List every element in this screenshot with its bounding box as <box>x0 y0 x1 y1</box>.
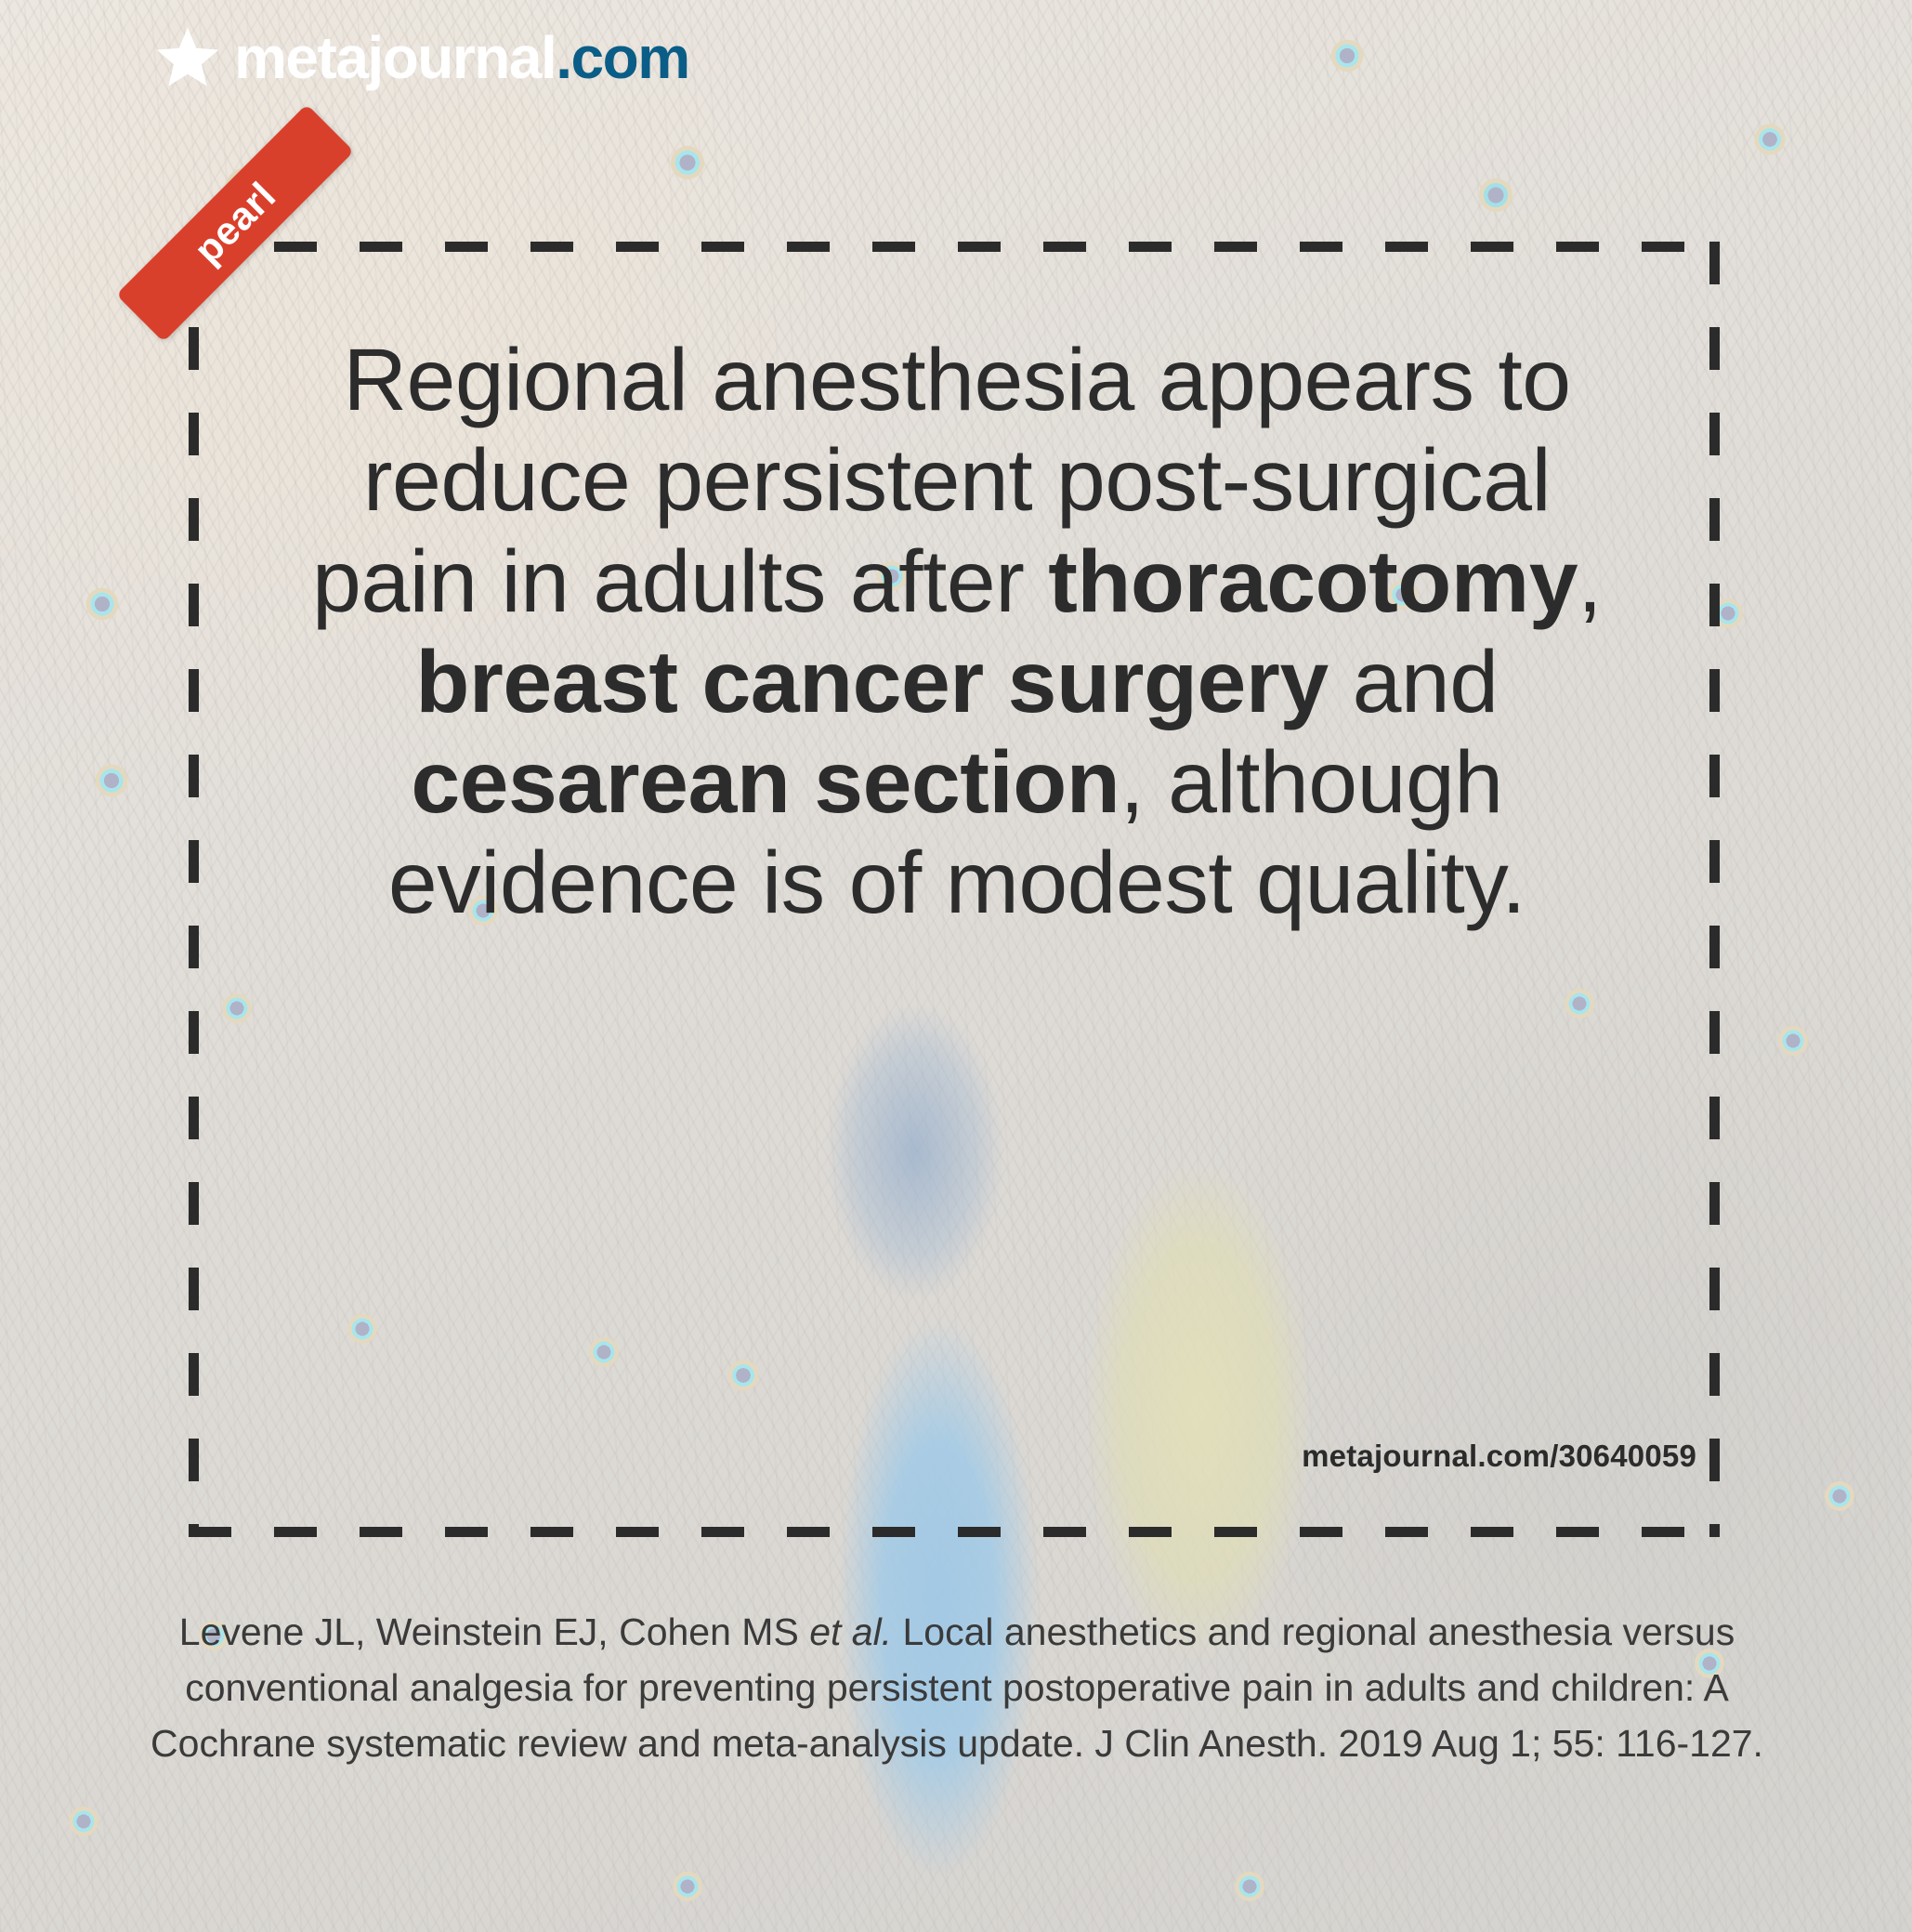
pearl-statement-bold-2: breast cancer surgery <box>415 633 1328 731</box>
pearl-statement: Regional anesthesia appears to reduce pe… <box>269 330 1644 934</box>
site-logo-text: metajournal.com <box>234 28 689 87</box>
site-logo-name: metajournal <box>234 24 556 91</box>
pearl-statement-part-2: , <box>1578 532 1602 631</box>
star-icon <box>154 24 221 91</box>
pearl-statement-bold-1: thoracotomy <box>1048 532 1578 631</box>
pearl-card: metajournal.com pearl Regional anesthesi… <box>0 0 1912 1932</box>
pearl-statement-part-3: and <box>1329 633 1499 731</box>
pearl-statement-bold-3: cesarean section <box>411 733 1120 832</box>
site-logo-tld: .com <box>556 24 688 91</box>
citation-authors: Levene JL, Weinstein EJ, Cohen MS <box>179 1610 809 1653</box>
citation-et-al: et al. <box>809 1610 892 1653</box>
citation: Levene JL, Weinstein EJ, Cohen MS et al.… <box>139 1605 1774 1772</box>
site-logo[interactable]: metajournal.com <box>154 24 689 91</box>
permalink-url[interactable]: metajournal.com/30640059 <box>1302 1439 1696 1474</box>
